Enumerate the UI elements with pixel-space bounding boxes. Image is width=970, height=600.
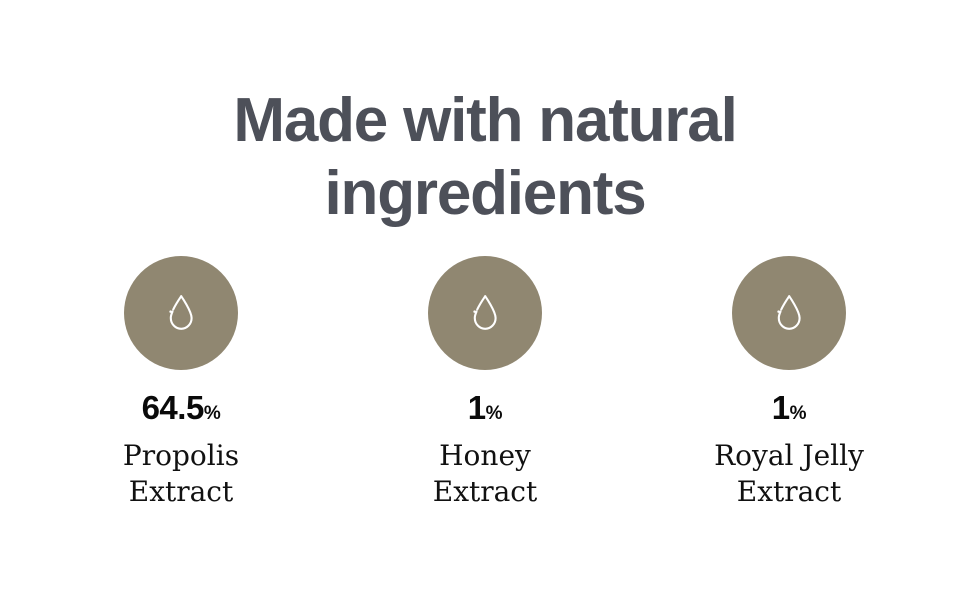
water-droplet-icon <box>470 293 500 333</box>
water-droplet-icon <box>774 293 804 333</box>
page-title: Made with natural ingredients <box>0 84 970 230</box>
list-item: 64.5% Propolis Extract <box>31 256 331 510</box>
list-item: 1% Royal Jelly Extract <box>639 256 939 510</box>
ingredients-infographic: Made with natural ingredients 64.5% Prop… <box>0 0 970 600</box>
ingredient-list: 64.5% Propolis Extract 1% Honey Extract <box>0 256 970 510</box>
ingredient-percent-unit: % <box>204 403 221 424</box>
ingredient-name: Honey Extract <box>383 438 588 510</box>
ingredient-percent: 64.5% <box>142 391 221 424</box>
ingredient-percent-value: 1 <box>468 389 486 426</box>
ingredient-name: Propolis Extract <box>79 438 284 510</box>
ingredient-percent-value: 1 <box>772 389 790 426</box>
ingredient-percent-unit: % <box>790 403 807 424</box>
water-droplet-icon <box>166 293 196 333</box>
ingredient-name: Royal Jelly Extract <box>687 438 892 510</box>
list-item: 1% Honey Extract <box>335 256 635 510</box>
ingredient-icon-badge <box>732 256 846 370</box>
ingredient-icon-badge <box>124 256 238 370</box>
ingredient-percent: 1% <box>772 391 806 424</box>
ingredient-percent-unit: % <box>486 403 503 424</box>
ingredient-percent-value: 64.5 <box>142 389 204 426</box>
ingredient-icon-badge <box>428 256 542 370</box>
ingredient-percent: 1% <box>468 391 502 424</box>
